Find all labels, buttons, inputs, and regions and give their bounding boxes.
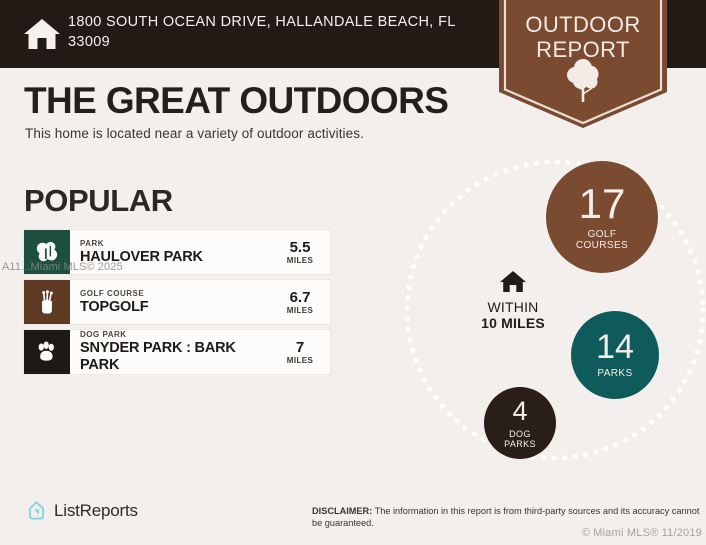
disclaimer: DISCLAIMER: The information in this repo… xyxy=(312,505,702,529)
stat-circle-parks: 14 PARKS xyxy=(571,311,659,399)
disclaimer-label: DISCLAIMER: xyxy=(312,506,372,516)
stat-label-line2: PARKS xyxy=(504,439,536,449)
stat-value: 4 xyxy=(512,398,527,425)
house-icon xyxy=(22,14,62,54)
stat-label: PARKS xyxy=(597,368,632,380)
mls-watermark: A11...Miami MLS© 2025 xyxy=(2,261,123,273)
stat-value: 17 xyxy=(579,183,626,225)
within-center-label: WITHIN 10 MILES xyxy=(458,270,568,332)
list-item-distance-unit: MILES xyxy=(287,306,313,315)
list-item-text: DOG PARK SNYDER PARK : BARK PARK xyxy=(70,330,274,374)
copyright-notice: © Miami MLS® 11/2019 xyxy=(506,527,702,539)
popular-list: PARK HAULOVER PARK 5.5 MILES GOLF COURSE xyxy=(24,230,330,380)
stat-circle-golf-courses: 17 GOLF COURSES xyxy=(546,161,658,273)
badge-title-line2: REPORT xyxy=(499,37,667,62)
list-item-name: SNYDER PARK : BARK PARK xyxy=(80,340,274,374)
list-item-category: GOLF COURSE xyxy=(80,289,274,299)
list-item-distance-value: 5.5 xyxy=(290,240,311,256)
stat-label: DOG PARKS xyxy=(504,429,536,449)
within-10-miles-diagram: 17 GOLF COURSES 14 PARKS 4 DOG PARKS WIT xyxy=(380,145,706,480)
page-title: THE GREAT OUTDOORS xyxy=(24,80,448,122)
list-item-distance-unit: MILES xyxy=(287,356,313,365)
list-item-text: GOLF COURSE TOPGOLF xyxy=(70,280,274,324)
list-item-category: DOG PARK xyxy=(80,330,274,340)
badge-title-line1: OUTDOOR xyxy=(499,12,667,37)
within-line1: WITHIN xyxy=(458,299,568,315)
golf-bag-icon xyxy=(24,280,70,324)
listreports-logo[interactable]: ListReports xyxy=(26,500,138,521)
list-item-distance-value: 7 xyxy=(296,340,304,356)
list-item-distance-unit: MILES xyxy=(287,256,313,265)
within-line2: 10 MILES xyxy=(458,315,568,332)
list-item-distance: 5.5 MILES xyxy=(274,230,330,274)
list-item[interactable]: GOLF COURSE TOPGOLF 6.7 MILES xyxy=(24,280,330,324)
listreports-logo-text: ListReports xyxy=(54,501,138,521)
list-item-distance: 7 MILES xyxy=(274,330,330,374)
property-address: 1800 SOUTH OCEAN DRIVE, HALLANDALE BEACH… xyxy=(68,12,478,52)
list-item-name: TOPGOLF xyxy=(80,299,274,316)
paw-icon xyxy=(24,330,70,374)
outdoor-report-page: 1800 SOUTH OCEAN DRIVE, HALLANDALE BEACH… xyxy=(0,0,706,545)
page-subtitle: This home is located near a variety of o… xyxy=(25,126,364,141)
stat-label-line1: DOG xyxy=(504,429,536,439)
stat-label-line2: COURSES xyxy=(576,240,628,252)
list-item-distance: 6.7 MILES xyxy=(274,280,330,324)
section-title-popular: POPULAR xyxy=(24,183,173,219)
stat-circle-dog-parks: 4 DOG PARKS xyxy=(484,387,556,459)
list-item[interactable]: DOG PARK SNYDER PARK : BARK PARK 7 MILES xyxy=(24,330,330,374)
badge-title: OUTDOOR REPORT xyxy=(499,12,667,62)
list-item-distance-value: 6.7 xyxy=(290,290,311,306)
stat-label-line1: GOLF xyxy=(576,229,628,241)
stat-label: GOLF COURSES xyxy=(576,229,628,252)
stat-value: 14 xyxy=(596,330,634,364)
outdoor-report-badge: OUTDOOR REPORT xyxy=(499,0,667,128)
house-icon xyxy=(499,270,527,294)
listreports-house-tag-icon xyxy=(26,500,47,521)
list-item-category: PARK xyxy=(80,239,274,249)
